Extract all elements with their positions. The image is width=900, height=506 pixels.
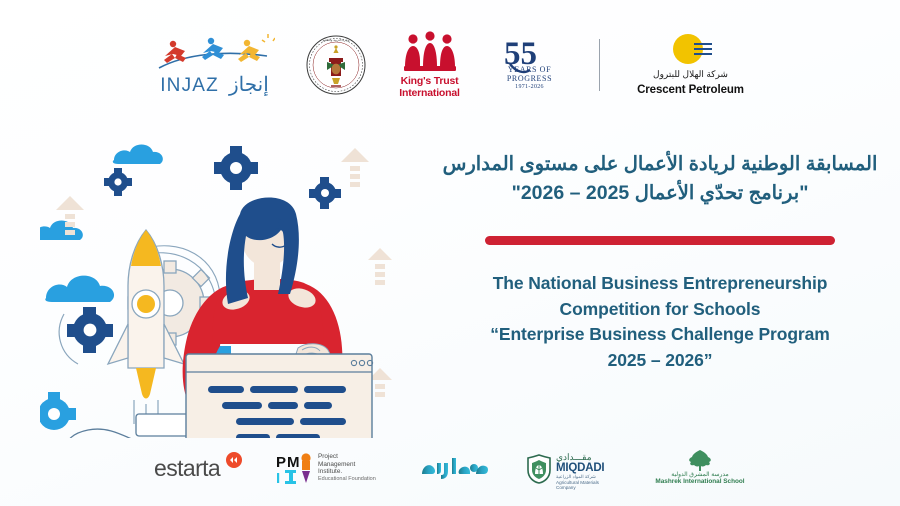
pmi-wordmark: Project Management Institute. Educationa…: [318, 453, 386, 483]
jordan-emblem-icon: وزارة التربية والتعليم: [305, 32, 367, 98]
pmi-line1: Project: [318, 453, 386, 461]
arrow-up-mid-icon: [341, 148, 369, 187]
pmi-logo-icon: P M I: [276, 452, 314, 486]
header-logo-strip: INJAZ إنجاز: [0, 26, 900, 104]
svg-text:وزارة التربية والتعليم: وزارة التربية والتعليم: [322, 38, 350, 42]
logo-crescent-petroleum: شركة الهلال للبترول Crescent Petroleum: [632, 28, 750, 102]
logo-kings-trust-international: King's Trust International: [393, 28, 467, 102]
pmi-line2: Management: [318, 461, 386, 469]
gear-dark-left-hub-icon: [84, 324, 97, 337]
gear-dark-top-hub-icon: [230, 162, 242, 174]
gear-swoosh-icon: [59, 314, 78, 364]
hero-illustration: [40, 118, 440, 438]
logo-ayla: [420, 448, 490, 490]
cloud-left-icon: [45, 276, 114, 302]
fifty-five-line2: PROGRESS: [493, 75, 567, 84]
logo-pmi-educational-foundation: P M I Project Management Institute. Educ…: [276, 448, 384, 490]
cloud-small-icon: [40, 221, 83, 241]
gear-blue-bottom-hub-icon: [48, 408, 60, 420]
logo-mashrek-international-school: مدرسة المشرق الدولية Mashrek Internation…: [654, 448, 746, 490]
browser-window-icon: [186, 354, 373, 438]
miqdadi-subtitle-en: Agricultural Materials Company: [556, 480, 618, 491]
svg-text:M: M: [287, 454, 300, 471]
english-title-line3: “Enterprise Business Challenge Program: [440, 322, 880, 348]
english-title-line1: The National Business Entrepreneurship: [440, 271, 880, 297]
estarta-mark-icon: [226, 452, 242, 468]
miqdadi-subtitle: شركة المواد الزراعية Agricultural Materi…: [556, 474, 618, 491]
gear-dark-small-hub-icon: [114, 178, 121, 185]
english-title-line2: Competition for Schools: [440, 297, 880, 323]
logo-estarta: estarta: [154, 448, 240, 490]
miqdadi-shield-icon: [526, 454, 552, 484]
red-divider-bar: [485, 236, 835, 245]
injaz-wordmark-en: INJAZ: [160, 75, 219, 97]
poster-canvas: INJAZ إنجاز: [0, 0, 900, 506]
header-logo-divider: [599, 39, 600, 91]
entrepreneur-illustration-icon: [40, 118, 440, 438]
estarta-wordmark: estarta: [154, 455, 220, 482]
cloud-top-icon: [113, 145, 163, 165]
injaz-wordmark-ar: إنجاز: [229, 72, 269, 97]
arabic-title: المسابقة الوطنية لريادة الأعمال على مستو…: [440, 150, 880, 208]
footer-logo-strip: estarta P M I: [0, 446, 900, 492]
fifty-five-line3: 1971-2026: [493, 83, 567, 92]
logo-miqdadi: مقـــدادي MIQDADI شركة المواد الزراعية A…: [526, 448, 618, 490]
crescent-petroleum-arabic: شركة الهلال للبترول: [632, 69, 750, 80]
ayla-wordmark-icon: [420, 454, 490, 482]
miqdadi-english: MIQDADI: [556, 462, 604, 474]
injaz-wordmark: INJAZ إنجاز: [151, 72, 279, 97]
kings-trust-crown-icon: [399, 31, 461, 73]
crescent-petroleum-english: Crescent Petroleum: [632, 84, 750, 96]
logo-55-years-of-progress: 55 YEARS OF PROGRESS 1971-2026: [493, 28, 567, 102]
english-title: The National Business Entrepreneurship C…: [440, 271, 880, 373]
logo-injaz: INJAZ إنجاز: [151, 28, 279, 102]
arrow-up-right-icon: [368, 248, 392, 285]
kings-trust-line1: King's Trust: [393, 76, 467, 88]
crescent-petroleum-icon: [668, 32, 714, 66]
kings-trust-line2: International: [393, 88, 467, 100]
svg-text:I: I: [276, 470, 280, 486]
arabic-title-line1: المسابقة الوطنية لريادة الأعمال على مستو…: [440, 150, 880, 179]
kings-trust-wordmark: King's Trust International: [393, 76, 467, 99]
injaz-runners-icon: [155, 34, 275, 76]
title-block: المسابقة الوطنية لريادة الأعمال على مستو…: [440, 150, 880, 373]
pmi-line3: Institute.: [318, 468, 386, 476]
logo-ministry-of-education-jordan: وزارة التربية والتعليم: [305, 28, 367, 102]
fifty-five-caption: YEARS OF PROGRESS 1971-2026: [493, 66, 567, 92]
gear-dark-mid-hub-icon: [321, 189, 329, 197]
english-title-line4: 2025 – 2026”: [440, 348, 880, 374]
mashrek-tree-icon: [685, 449, 715, 471]
mashrek-arabic: مدرسة المشرق الدولية: [654, 471, 746, 478]
svg-text:P: P: [276, 454, 286, 471]
arabic-title-line2: "برنامج تحدّي الأعمال 2025 – 2026": [440, 179, 880, 208]
pmi-line4: Educational Foundation: [318, 476, 386, 484]
mashrek-english: Mashrek International School: [654, 478, 746, 485]
